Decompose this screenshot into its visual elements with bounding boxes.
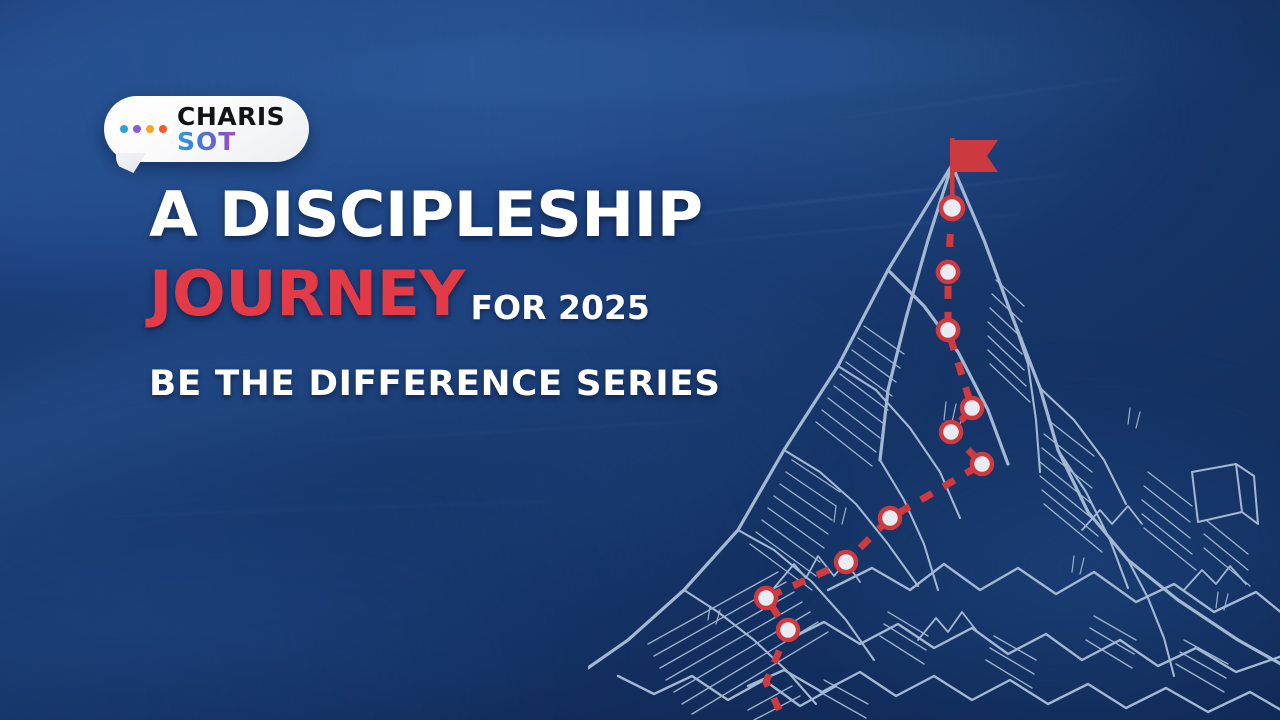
dot-orange-icon: [146, 125, 154, 133]
waypoint-2: [938, 262, 958, 282]
waypoint-summit: [941, 197, 963, 219]
headline-block: A DISCIPLESHIP JOURNEY FOR 2025 BE THE D…: [149, 178, 909, 404]
waypoint-9: [756, 588, 776, 608]
headline-journey: JOURNEY: [149, 257, 465, 330]
headline-line-2: JOURNEY FOR 2025: [149, 257, 909, 330]
mountain-foreground-rocks: [618, 564, 1280, 714]
headline-line-1: A DISCIPLESHIP: [149, 178, 924, 251]
waypoint-10: [778, 620, 798, 640]
dot-cyan-icon: [120, 125, 128, 133]
mountain-cliff-block: [1192, 464, 1258, 524]
dot-purple-icon: [133, 125, 141, 133]
dot-red-icon: [159, 125, 167, 133]
charis-sot-logo[interactable]: CHARIS SOT: [104, 96, 309, 162]
headline-subtitle: BE THE DIFFERENCE SERIES: [149, 364, 924, 404]
logo-dots-group: [120, 125, 167, 133]
logo-name-sot: SOT: [177, 130, 285, 154]
waypoint-5: [941, 422, 961, 442]
logo-name-charis: CHARIS: [177, 105, 285, 129]
waypoint-4: [962, 398, 982, 418]
waypoint-6: [972, 454, 992, 474]
poster-canvas: CHARIS SOT A DISCIPLESHIP JOURNEY FOR 20…: [0, 0, 1280, 720]
waypoint-7: [880, 508, 900, 528]
headline-for-2025: FOR 2025: [471, 288, 650, 327]
waypoint-8: [836, 552, 856, 572]
waypoint-3: [938, 320, 958, 340]
